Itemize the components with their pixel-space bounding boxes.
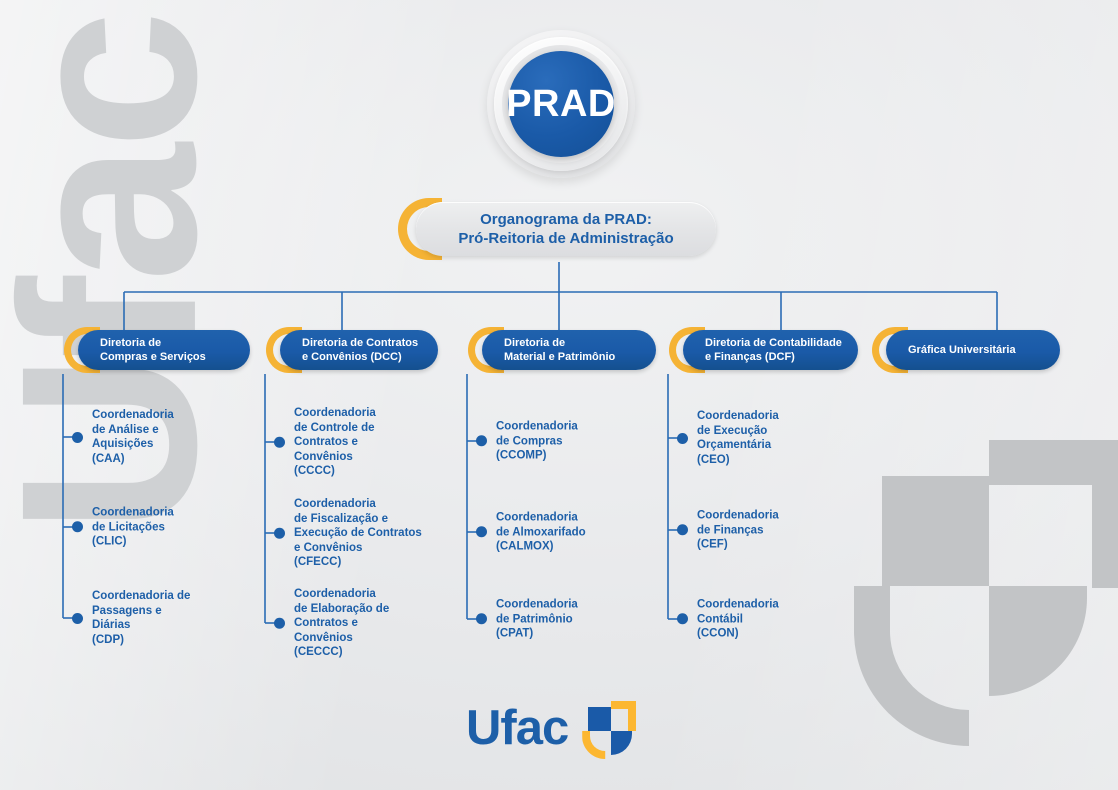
coordination-item[interactable]: Coordenadoria de Análise e Aquisições (C… [72, 408, 174, 466]
dept-box-2[interactable]: Diretoria de Material e Patrimônio [468, 327, 656, 373]
coordination-label: Coordenadoria de Almoxarifado (CALMOX) [496, 510, 586, 554]
bullet-dot [677, 433, 688, 444]
ufac-logo: Ufac [466, 697, 652, 759]
watermark-shield [854, 430, 1104, 740]
bullet-dot [274, 618, 285, 629]
prad-badge: PRAD [487, 30, 635, 178]
coordination-item[interactable]: Coordenadoria de Patrimônio (CPAT) [476, 597, 578, 641]
coordination-item[interactable]: Coordenadoria de Elaboração de Contratos… [274, 587, 389, 660]
bullet-dot [677, 525, 688, 536]
dept-pill[interactable]: Diretoria de Material e Patrimônio [482, 330, 656, 370]
prad-circle: PRAD [508, 51, 614, 157]
bullet-dot [72, 432, 83, 443]
coordination-item[interactable]: Coordenadoria de Licitações (CLIC) [72, 505, 174, 549]
bullet-dot [72, 613, 83, 624]
coordination-label: Coordenadoria de Controle de Contratos e… [294, 406, 376, 479]
dept-label-line-2: e Convênios (DCC) [302, 350, 438, 364]
coordination-item[interactable]: Coordenadoria de Execução Orçamentária (… [677, 409, 779, 467]
bullet-dot [476, 436, 487, 447]
dept-label-line-2: Material e Patrimônio [504, 350, 656, 364]
coordination-item[interactable]: Coordenadoria de Almoxarifado (CALMOX) [476, 510, 586, 554]
prad-label: PRAD [506, 83, 616, 126]
bullet-dot [677, 614, 688, 625]
bullet-dot [476, 527, 487, 538]
dept-pill[interactable]: Gráfica Universitária [886, 330, 1060, 370]
dept-pill[interactable]: Diretoria de Contabilidade e Finanças (D… [683, 330, 858, 370]
coordination-label: Coordenadoria de Passagens e Diárias (CD… [92, 589, 190, 647]
coordination-label: Coordenadoria de Análise e Aquisições (C… [92, 408, 174, 466]
bullet-dot [72, 522, 83, 533]
dept-label-line-2: e Finanças (DCF) [705, 350, 858, 364]
ufac-wordmark: Ufac [466, 704, 568, 753]
chart-title-banner: Organograma da PRAD: Pró-Reitoria de Adm… [398, 198, 716, 260]
coordination-label: Coordenadoria de Compras (CCOMP) [496, 419, 578, 463]
coordination-label: Coordenadoria de Licitações (CLIC) [92, 505, 174, 549]
title-pill: Organograma da PRAD: Pró-Reitoria de Adm… [416, 202, 716, 256]
dept-label-line-1: Diretoria de Contabilidade [705, 336, 858, 350]
dept-label-line-1: Diretoria de Contratos [302, 336, 438, 350]
coordination-label: Coordenadoria de Elaboração de Contratos… [294, 587, 389, 660]
coordination-label: Coordenadoria de Patrimônio (CPAT) [496, 597, 578, 641]
dept-box-3[interactable]: Diretoria de Contabilidade e Finanças (D… [669, 327, 858, 373]
dept-box-1[interactable]: Diretoria de Contratos e Convênios (DCC) [266, 327, 438, 373]
dept-box-4[interactable]: Gráfica Universitária [872, 327, 1060, 373]
title-line-1: Organograma da PRAD: [480, 210, 652, 229]
coordination-item[interactable]: Coordenadoria Contábil (CCON) [677, 597, 779, 641]
coordination-item[interactable]: Coordenadoria de Compras (CCOMP) [476, 419, 578, 463]
dept-pill[interactable]: Diretoria de Contratos e Convênios (DCC) [280, 330, 438, 370]
dept-box-0[interactable]: Diretoria de Compras e Serviços [64, 327, 250, 373]
coordination-item[interactable]: Coordenadoria de Passagens e Diárias (CD… [72, 589, 190, 647]
dept-label-line-1: Gráfica Universitária [908, 343, 1060, 357]
coordination-label: Coordenadoria de Finanças (CEF) [697, 508, 779, 552]
coordination-label: Coordenadoria de Fiscalização e Execução… [294, 497, 422, 570]
bullet-dot [274, 437, 285, 448]
coordination-item[interactable]: Coordenadoria de Controle de Contratos e… [274, 406, 376, 479]
bullet-dot [274, 528, 285, 539]
ufac-shield-icon [582, 699, 636, 757]
dept-label-line-2: Compras e Serviços [100, 350, 250, 364]
bullet-dot [476, 614, 487, 625]
coordination-label: Coordenadoria Contábil (CCON) [697, 597, 779, 641]
coordination-item[interactable]: Coordenadoria de Fiscalização e Execução… [274, 497, 422, 570]
coordination-item[interactable]: Coordenadoria de Finanças (CEF) [677, 508, 779, 552]
title-line-2: Pró-Reitoria de Administração [458, 229, 673, 248]
dept-label-line-1: Diretoria de [100, 336, 250, 350]
coordination-label: Coordenadoria de Execução Orçamentária (… [697, 409, 779, 467]
dept-pill[interactable]: Diretoria de Compras e Serviços [78, 330, 250, 370]
dept-label-line-1: Diretoria de [504, 336, 656, 350]
